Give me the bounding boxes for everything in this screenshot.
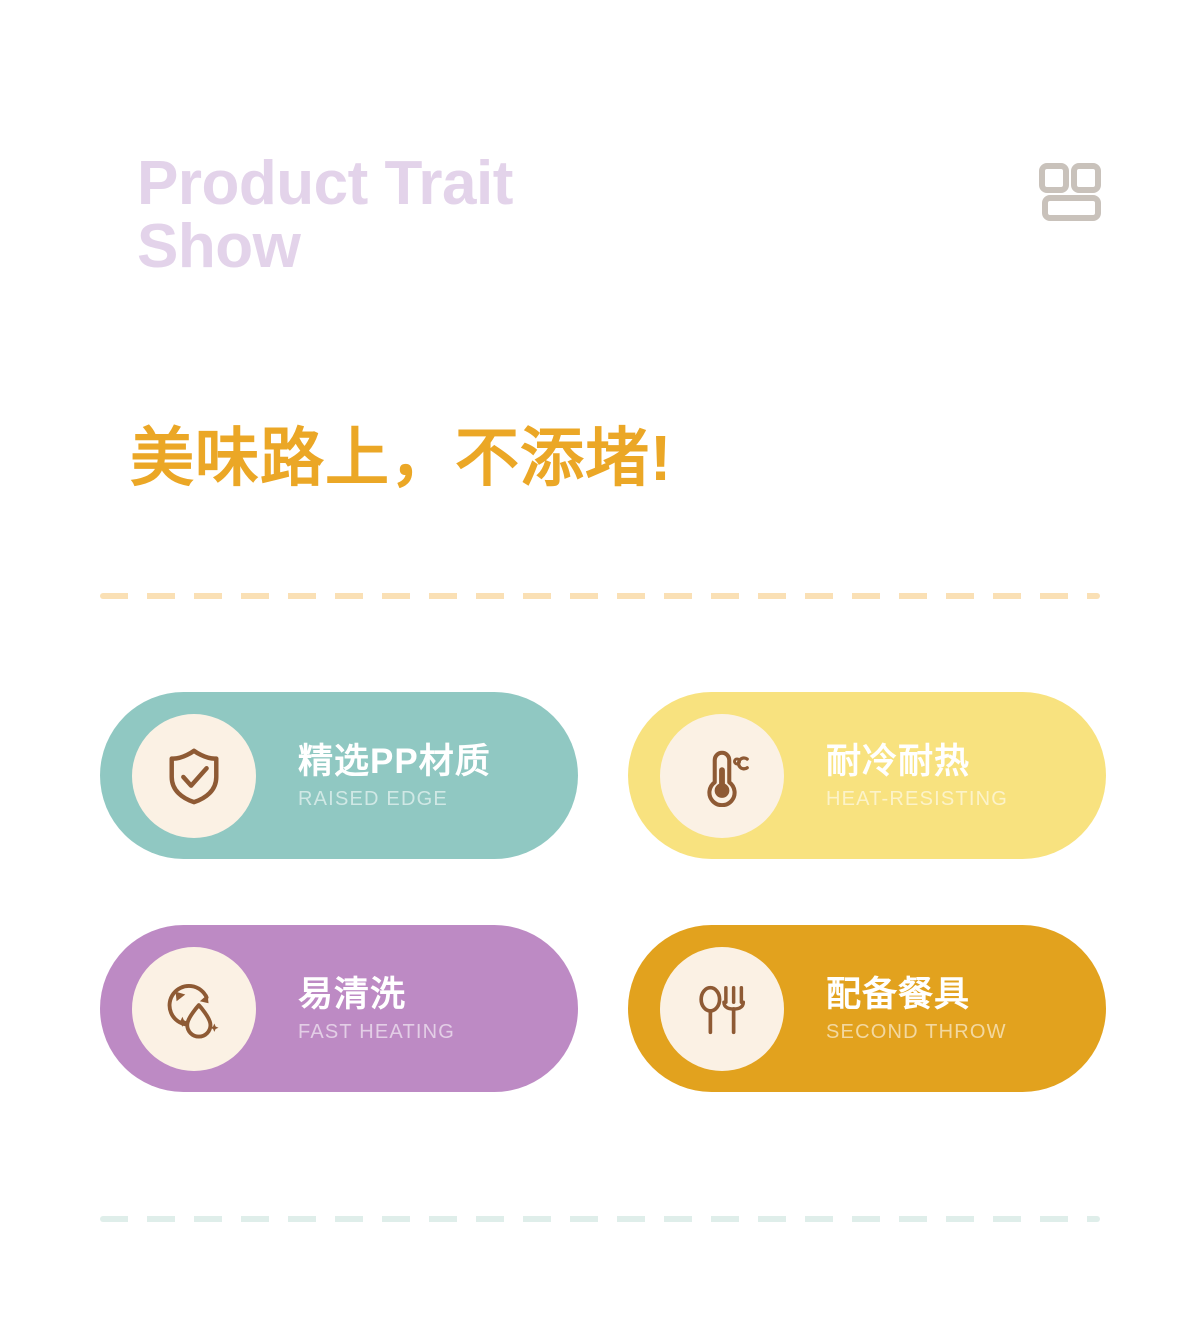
thermometer-celsius-icon <box>691 745 753 807</box>
feature-card-heat-resisting[interactable]: 耐冷耐热 HEAT-RESISTING <box>628 692 1106 859</box>
headline-chinese: 美味路上，不添堵! <box>130 407 672 499</box>
feature-card-grid: 精选PP材质 RAISED EDGE 耐冷耐热 HEAT-RESISTING <box>0 692 1200 1092</box>
layout-grid-icon[interactable] <box>1038 163 1102 221</box>
card-subtitle: SECOND THROW <box>826 1021 1007 1044</box>
card-title: 精选PP材质 <box>298 740 491 781</box>
feature-card-pp-material[interactable]: 精选PP材质 RAISED EDGE <box>100 692 578 859</box>
card-text: 精选PP材质 RAISED EDGE <box>298 740 491 810</box>
feature-card-easy-clean[interactable]: 易清洗 FAST HEATING <box>100 925 578 1092</box>
card-text: 易清洗 FAST HEATING <box>298 973 455 1043</box>
card-subtitle: FAST HEATING <box>298 1021 455 1044</box>
feature-card-cutlery[interactable]: 配备餐具 SECOND THROW <box>628 925 1106 1092</box>
card-title: 易清洗 <box>298 973 455 1014</box>
divider-bottom <box>100 1216 1100 1222</box>
card-title: 配备餐具 <box>826 973 1007 1014</box>
card-title: 耐冷耐热 <box>826 740 1008 781</box>
water-drop-refresh-icon <box>163 978 225 1040</box>
shield-check-icon <box>163 745 225 807</box>
product-trait-show-page: Product Trait Show 美味路上，不添堵! 精选PP材质 RA <box>0 0 1200 1317</box>
page-header: Product Trait Show 美味路上，不添堵! <box>0 0 1200 360</box>
card-text: 耐冷耐热 HEAT-RESISTING <box>826 740 1008 810</box>
icon-badge <box>660 714 784 838</box>
divider-top <box>100 593 1100 599</box>
card-subtitle: HEAT-RESISTING <box>826 788 1008 811</box>
page-title: Product Trait Show <box>137 152 757 278</box>
icon-badge <box>132 714 256 838</box>
card-text: 配备餐具 SECOND THROW <box>826 973 1007 1043</box>
spoon-fork-icon <box>691 978 753 1040</box>
icon-badge <box>660 947 784 1071</box>
icon-badge <box>132 947 256 1071</box>
card-subtitle: RAISED EDGE <box>298 788 491 811</box>
